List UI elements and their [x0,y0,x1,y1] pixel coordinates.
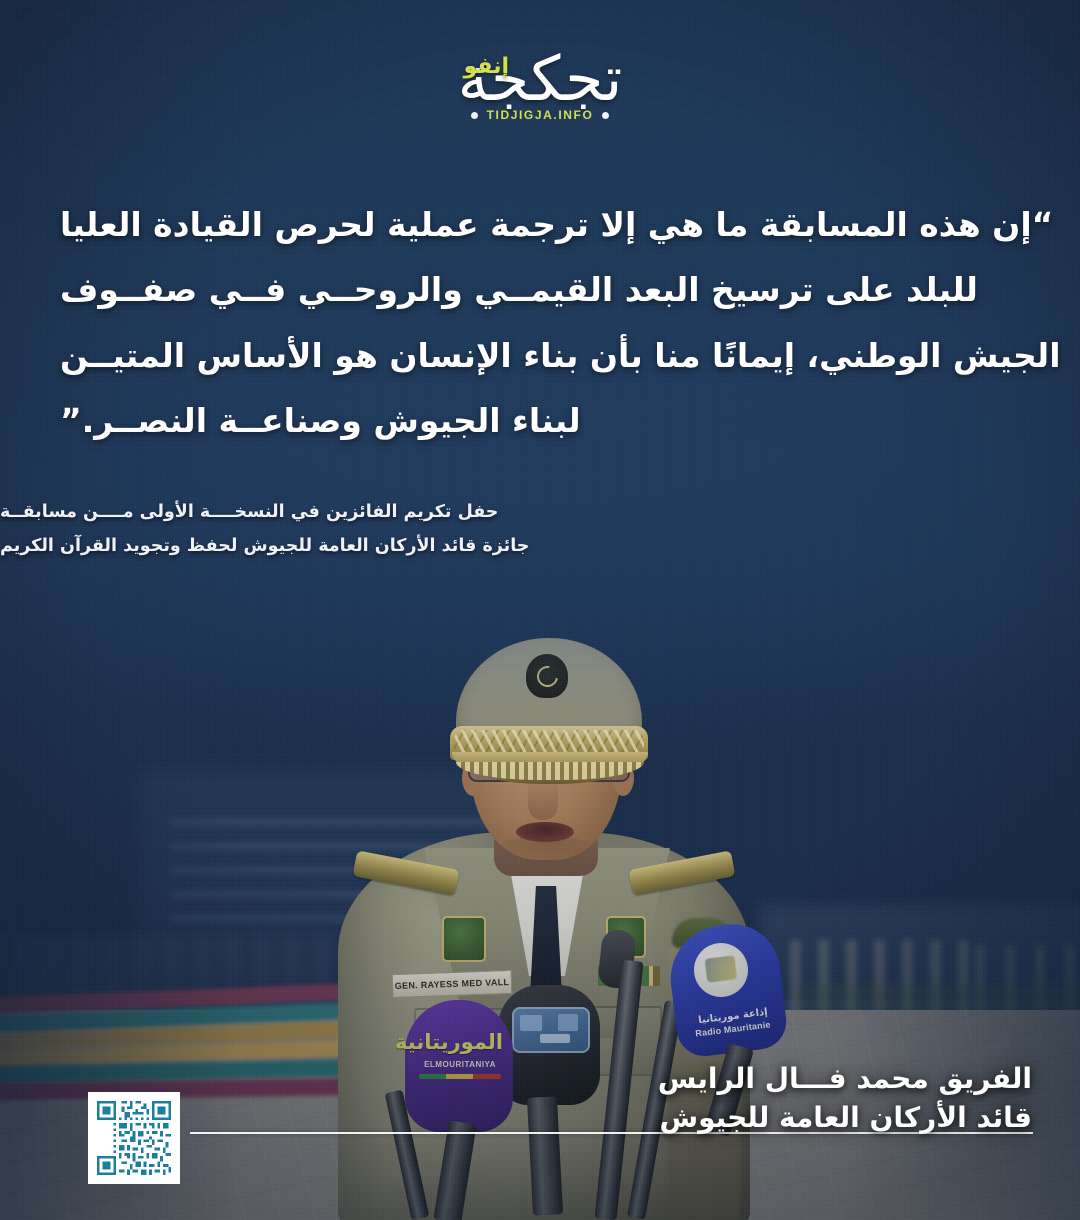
logo-stack: تجكجة إنفو TIDJIGJA.INFO [458,48,623,122]
mic-screen-block-c [540,1034,570,1043]
event-subtitle: حفل تكريم الفائزين في النسخــــة الأولى … [0,496,1018,563]
subtitle-line-1: حفل تكريم الفائزين في النسخــــة الأولى … [0,496,1018,530]
mic-label-latin: ELMOURITANIYA [417,1060,503,1069]
logo-dot-right-icon [602,112,609,119]
logo-url-text: TIDJIGJA.INFO [487,108,594,122]
speaker-caption: الفريق محمد فـــال الرايس قائد الأركان ا… [658,1060,1032,1137]
quote-line-3: الجيش الوطني، إيمانًا منا بأن بناء الإنس… [60,323,1018,388]
quote-line-4-text: لبناء الجيوش وصناعــة النصــر.” [60,388,581,453]
pull-quote: “إن هذه المسابقة ما هي إلا ترجمة عملية ل… [60,192,1018,453]
mic-logo-screen [512,1007,590,1053]
subtitle-line-1-text: حفل تكريم الفائزين في النسخــــة الأولى … [0,496,498,530]
mic-shaft [433,1120,476,1220]
speaker-name: الفريق محمد فـــال الرايس [658,1060,1032,1099]
subtitle-line-2: جائزة قائد الأركان العامة للجيوش لحفظ وت… [0,530,1018,564]
background-photo: GEN. RAYESS MED VALL [0,0,1080,1220]
quote-line-1-text: “إن هذه المسابقة ما هي إلا ترجمة عملية ل… [60,192,1053,257]
uniform-nametag: GEN. RAYESS MED VALL [392,970,513,998]
quote-line-3-text: الجيش الوطني، إيمانًا منا بأن بناء الإنس… [60,323,1061,388]
logo-wordmark-info: إنفو [464,54,509,79]
logo-dot-left-icon [471,112,478,119]
mic-flag-stripe [419,1074,501,1079]
quote-line-4: لبناء الجيوش وصناعــة النصــر.” [60,388,1018,453]
cap-emblem-icon [526,654,568,698]
quote-line-2-text: للبلد على ترسيخ البعد القيمــي والروحــي… [60,257,978,322]
qr-code[interactable] [88,1092,180,1184]
mic-screen-block-a [520,1015,542,1031]
speaker-title: قائد الأركان العامة للجيوش [658,1099,1032,1138]
qr-code-icon [94,1098,174,1178]
uniform-badge-left [442,916,486,962]
quote-line-1: “إن هذه المسابقة ما هي إلا ترجمة عملية ل… [60,192,1018,257]
quote-line-2: للبلد على ترسيخ البعد القيمــي والروحــي… [60,257,1018,322]
site-logo[interactable]: تجكجة إنفو TIDJIGJA.INFO [0,48,1080,123]
mic-label-arabic: الموريتانية [417,1030,503,1054]
uniform-nametag-text: GEN. RAYESS MED VALL [395,977,510,991]
poster-canvas: GEN. RAYESS MED VALL [0,0,1080,1220]
mic-shaft [527,1096,563,1215]
subtitle-line-2-text: جائزة قائد الأركان العامة للجيوش لحفظ وت… [0,530,529,564]
chin-shadow [492,836,600,866]
mic-screen-block-b [558,1014,578,1031]
